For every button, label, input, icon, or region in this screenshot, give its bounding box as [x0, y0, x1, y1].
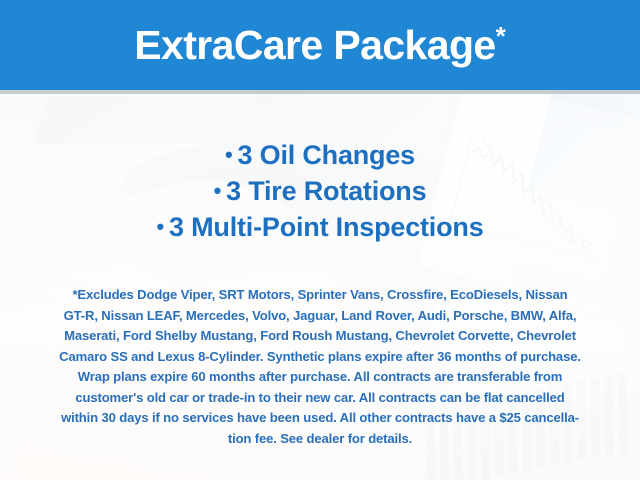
bullet-icon: • — [214, 178, 222, 203]
extracare-promo-card: ExtraCare Package* •3 Oil C — [0, 0, 640, 480]
benefit-item-label: 3 Tire Rotations — [226, 176, 426, 206]
benefit-item-label: 3 Multi-Point Inspections — [169, 212, 484, 242]
disclaimer-line: Maserati, Ford Shelby Mustang, Ford Rous… — [0, 326, 640, 347]
disclaimer-line: within 30 days if no services have been … — [0, 408, 640, 429]
title-asterisk: * — [496, 21, 506, 51]
page-title: ExtraCare Package* — [134, 23, 505, 68]
bullet-icon: • — [156, 214, 164, 239]
benefit-item: •3 Multi-Point Inspections — [0, 210, 640, 246]
disclaimer-line: customer's old car or trade-in to their … — [0, 388, 640, 409]
page-title-text: ExtraCare Package — [134, 22, 495, 68]
benefit-item: •3 Tire Rotations — [0, 174, 640, 210]
disclaimer-line: Camaro SS and Lexus 8-Cylinder. Syntheti… — [0, 347, 640, 368]
benefit-item: •3 Oil Changes — [0, 138, 640, 174]
disclaimer-line: *Excludes Dodge Viper, SRT Motors, Sprin… — [0, 285, 640, 306]
bullet-icon: • — [225, 142, 233, 167]
header-banner: ExtraCare Package* — [0, 0, 640, 90]
benefit-item-label: 3 Oil Changes — [238, 140, 415, 170]
disclaimer-line: Wrap plans expire 60 months after purcha… — [0, 367, 640, 388]
content-layer: •3 Oil Changes •3 Tire Rotations •3 Mult… — [0, 90, 640, 480]
benefits-list: •3 Oil Changes •3 Tire Rotations •3 Mult… — [0, 138, 640, 246]
disclaimer-text: *Excludes Dodge Viper, SRT Motors, Sprin… — [0, 285, 640, 449]
disclaimer-line: GT-R, Nissan LEAF, Mercedes, Volvo, Jagu… — [0, 306, 640, 327]
disclaimer-line: tion fee. See dealer for details. — [0, 429, 640, 450]
